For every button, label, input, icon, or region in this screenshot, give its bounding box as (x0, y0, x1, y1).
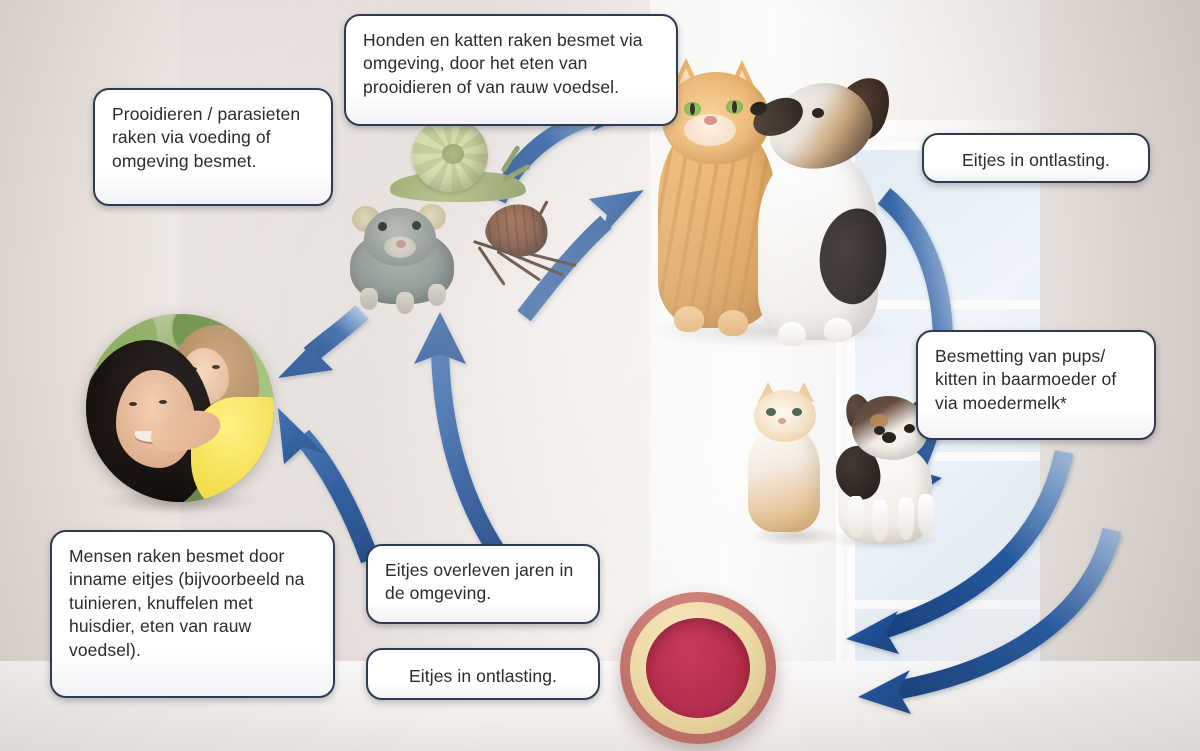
child-eye-right (212, 365, 220, 369)
callout-dogs-cats-infected: Honden en katten raken besmet via omgevi… (344, 14, 678, 126)
dog-eye (812, 108, 824, 118)
flea-figure (470, 196, 580, 306)
rat-eye-right (412, 221, 421, 230)
adult-pets-figure (640, 58, 906, 334)
rat-eye-left (378, 222, 387, 231)
cat-eye-left (684, 102, 701, 116)
puppy-leg-2 (872, 500, 888, 542)
kitten-eye-right (792, 408, 802, 416)
kitten-eye-left (766, 408, 776, 416)
puppy-nose (882, 432, 896, 443)
rat-leg-rear (428, 284, 446, 306)
cat-pupil-right (732, 101, 737, 113)
callout-eggs-in-faeces-top: Eitjes in ontlasting. (922, 133, 1150, 183)
cat-nose (704, 116, 717, 125)
arrow-eggs-to-environment (414, 312, 500, 556)
puppy-leg-4 (918, 494, 934, 536)
callout-humans-infected: Mensen raken besmet door inname eitjes (… (50, 530, 335, 698)
dog-paw-right (824, 318, 852, 342)
puppy-leg-3 (898, 498, 914, 540)
kitten-nose (778, 418, 786, 424)
food-bowl-inner (646, 618, 750, 718)
people-photo (86, 314, 274, 502)
puppy-leg-1 (848, 496, 864, 538)
puppy-eye-right (904, 424, 915, 433)
arrow-pets-to-people (278, 312, 362, 378)
snail-shell-spiral (442, 144, 464, 164)
callout-eggs-in-faeces-bottom: Eitjes in ontlasting. (366, 648, 600, 700)
kitten-head (754, 390, 816, 442)
rat-nose (396, 240, 406, 248)
dog-paw-left (778, 322, 806, 346)
rat-leg-left (360, 288, 378, 310)
callout-prey-parasites: Prooidieren / parasieten raken via voedi… (93, 88, 333, 206)
callout-pups-kittens: Besmetting van pups/ kitten in baarmoede… (916, 330, 1156, 440)
food-bowl-figure (620, 592, 776, 744)
rat-leg-right (396, 292, 414, 314)
infographic-canvas: Prooidieren / parasieten raken via voedi… (0, 0, 1200, 751)
cat-paw-left (674, 306, 704, 332)
rat-figure (330, 188, 480, 318)
callout-eggs-survive: Eitjes overleven jaren in de omgeving. (366, 544, 600, 624)
cat-eye-right (726, 100, 743, 114)
snail-shell (412, 118, 488, 192)
flea-antenna (538, 200, 548, 216)
cat-paw-right (718, 310, 748, 336)
cat-pupil-left (690, 103, 695, 115)
